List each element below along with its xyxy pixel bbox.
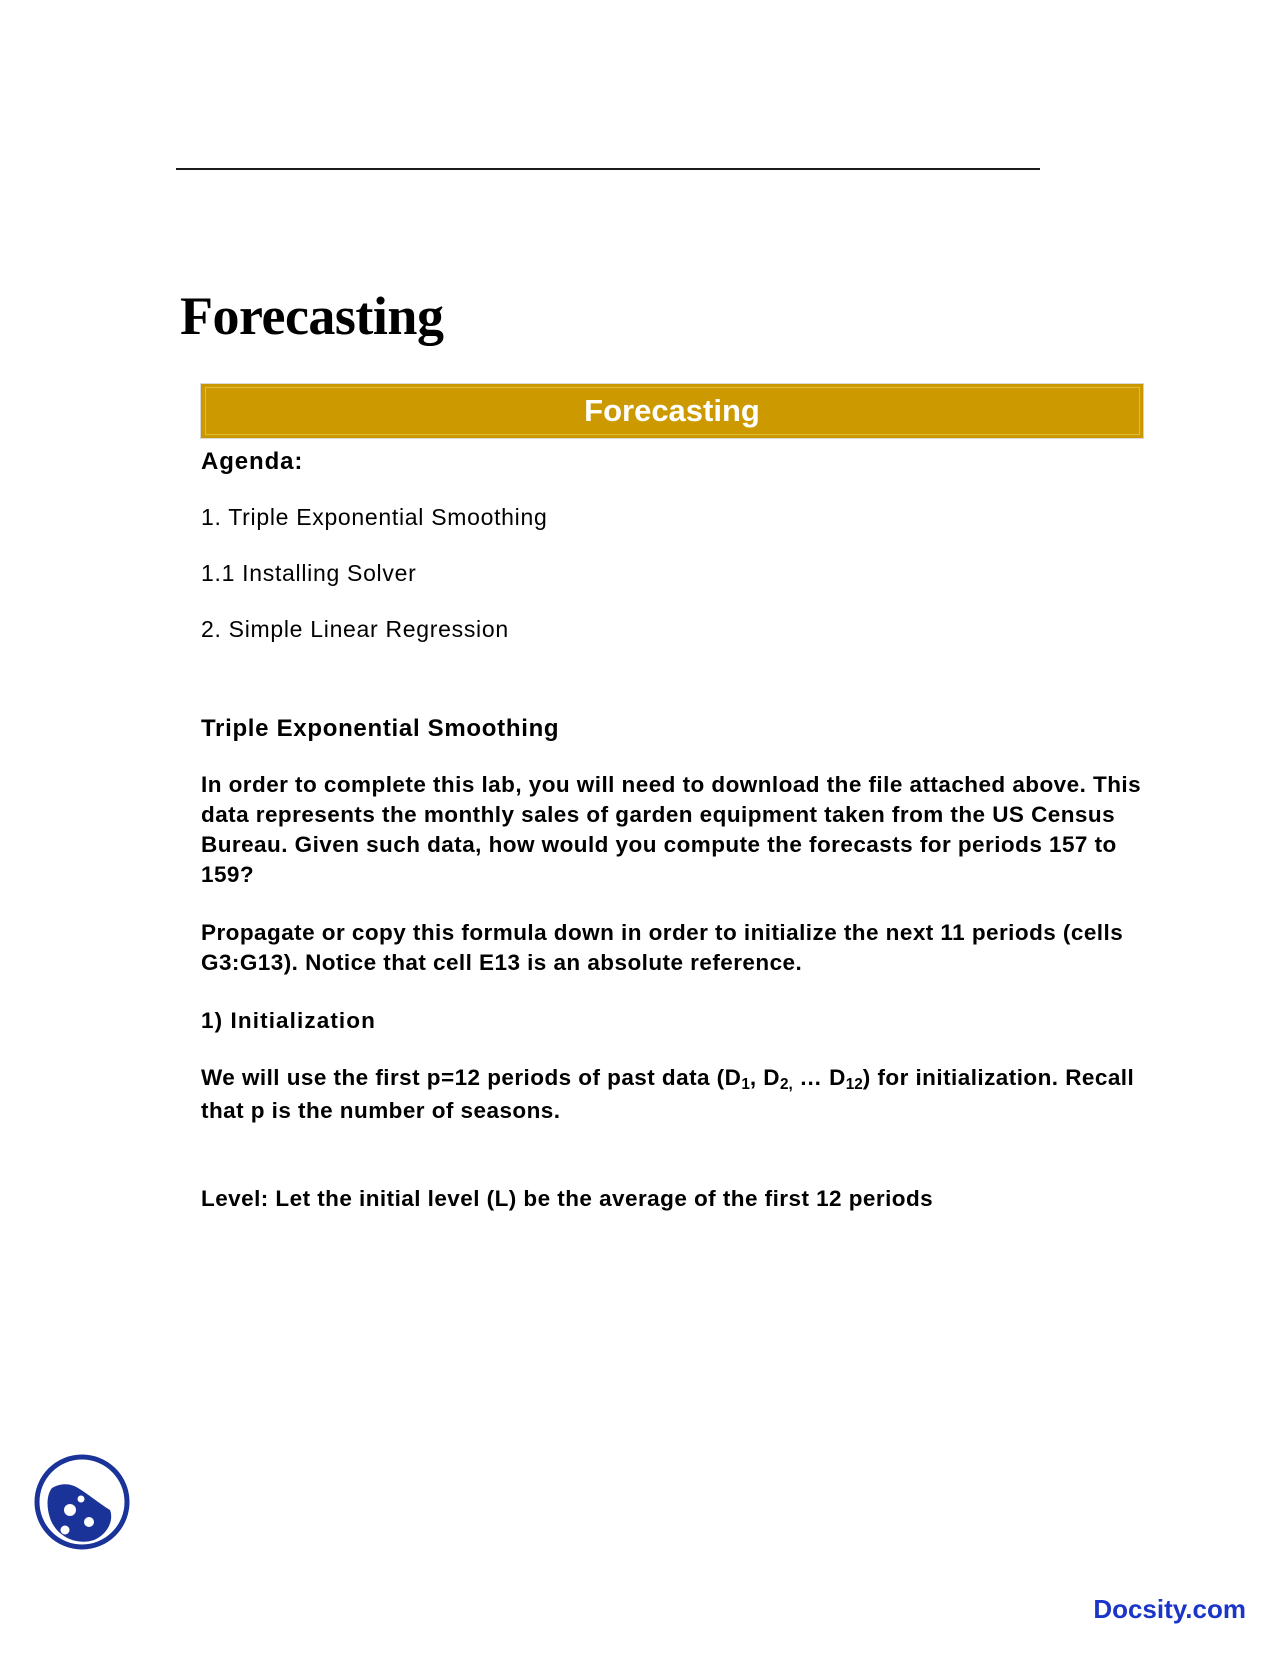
agenda-item-3: 2. Simple Linear Regression [201, 615, 1146, 643]
banner-title: Forecasting [584, 394, 760, 428]
paragraph-propagate-formula: Propagate or copy this formula down in o… [201, 918, 1146, 978]
docsity-cookie-logo [32, 1452, 132, 1552]
page-title: Forecasting [180, 286, 443, 346]
content-column: Agenda: 1. Triple Exponential Smoothing … [201, 447, 1146, 1242]
agenda-label: Agenda: [201, 447, 1146, 477]
paragraph-intro: In order to complete this lab, you will … [201, 770, 1146, 890]
header-divider-rule [176, 168, 1040, 170]
subheading-initialization: 1) Initialization [201, 1006, 1146, 1036]
section-banner: Forecasting [200, 383, 1144, 439]
agenda-item-2: 1.1 Installing Solver [201, 559, 1146, 587]
paragraph-initialization-text-1: We will use the first p=12 periods of pa… [201, 1065, 741, 1090]
subscript-d2: 2, [780, 1076, 793, 1093]
paragraph-level-definition: Level: Let the initial level (L) be the … [201, 1184, 1146, 1214]
paragraph-initialization-text-2: , D [750, 1065, 780, 1090]
section-heading-triple-exponential-smoothing: Triple Exponential Smoothing [201, 714, 1146, 744]
document-page: Forecasting Forecasting Agenda: 1. Tripl… [0, 0, 1280, 1656]
paragraph-initialization-text-3: … D [793, 1065, 846, 1090]
subscript-d1: 1 [741, 1076, 750, 1093]
agenda-item-1: 1. Triple Exponential Smoothing [201, 503, 1146, 531]
paragraph-initialization-data: We will use the first p=12 periods of pa… [201, 1063, 1146, 1126]
docsity-footer-link[interactable]: Docsity.com [1093, 1594, 1246, 1624]
subscript-d12: 12 [846, 1076, 863, 1093]
